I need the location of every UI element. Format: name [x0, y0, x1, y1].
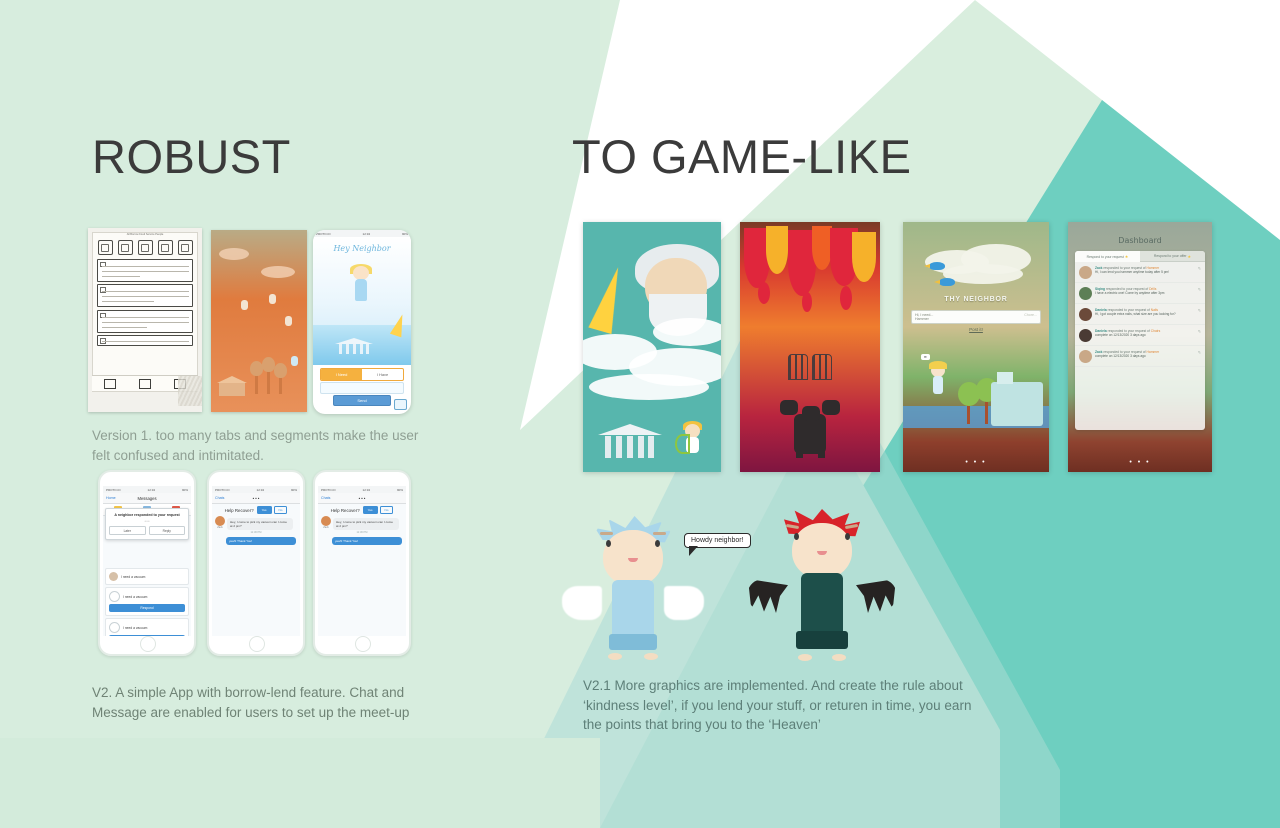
row-item: Hammer	[1147, 350, 1160, 354]
wireframe-list-row	[97, 335, 193, 346]
status-bar: PROTO.IO 12:34 90%	[313, 230, 411, 237]
heading-robust: ROBUST	[92, 133, 291, 180]
row-text: Daniela responded to your request of Nai…	[1095, 308, 1195, 318]
tree-illustration	[267, 368, 270, 394]
status-carrier: PROTO.IO	[106, 488, 121, 492]
angel-foot	[644, 653, 658, 660]
row-item: Drills	[1149, 287, 1156, 291]
home-button[interactable]	[355, 636, 371, 652]
outgoing-message: yeah! Thank You!	[226, 537, 296, 545]
table-row[interactable]: Siqing responded to your request of Dril…	[1075, 283, 1205, 304]
status-carrier: PROTO.IO	[316, 232, 331, 236]
chat-screen: PROTO.IO 12:34 90% Chats • • • Help Reco…	[212, 486, 300, 636]
post-it-button[interactable]: Post it!	[903, 327, 1049, 332]
segment-i-have[interactable]: I Have	[362, 369, 403, 380]
messages-navbar: Home Messages	[103, 493, 191, 504]
status-time: 12:34	[363, 488, 371, 492]
angel-eye	[655, 540, 660, 547]
angel-illustration	[927, 362, 949, 396]
avatar	[109, 622, 120, 633]
onboarding-orange-mockup	[211, 230, 307, 412]
camera-icon[interactable]	[394, 399, 407, 410]
status-bar: PROTO.IO 12:34 90%	[318, 486, 406, 493]
chat-phone-mockup-1: PROTO.IO 12:34 90% Chats • • • Help Reco…	[207, 470, 305, 656]
dashboard-title: Dashboard	[1068, 236, 1212, 245]
incoming-message: Hey, I come to pick my vacuum can I come…	[333, 518, 399, 530]
avatar	[215, 516, 225, 526]
status-carrier: PROTO.IO	[321, 488, 336, 492]
back-button[interactable]: Home	[106, 496, 116, 500]
send-button[interactable]: Send	[333, 395, 391, 406]
outgoing-message: yeah! Thank You!	[332, 537, 402, 545]
input-placeholder: Chore...	[1024, 313, 1037, 317]
bird-icon	[939, 278, 955, 286]
wireframe-tab-icon	[178, 240, 193, 255]
input-value: Hammer	[915, 317, 929, 321]
devil-eye	[845, 533, 850, 540]
table-row[interactable]: Daniela responded to your request of Cha…	[1075, 325, 1205, 346]
status-battery: 90%	[182, 488, 188, 492]
dashboard-tabs[interactable]: Respond to your request ★ Respond to you…	[1075, 251, 1205, 262]
caption-version-2-1: V2.1 More graphics are implemented. And …	[583, 676, 978, 735]
messages-screen: PROTO.IO 12:34 90% Home Messages A neigh…	[103, 486, 191, 636]
avatar	[321, 516, 331, 526]
background-bottom-strip	[0, 738, 600, 828]
row-verb: responded to your request of	[1103, 350, 1145, 354]
chat-navbar: Chats • • •	[318, 493, 406, 504]
row-user: Daniela	[1095, 308, 1107, 312]
chat-phone-mockup-2: PROTO.IO 12:34 90% Chats • • • Help Reco…	[313, 470, 411, 656]
speech-bubble: Howdy neighbor!	[684, 533, 751, 548]
wireframe-list-row	[97, 310, 193, 333]
chat-screen: PROTO.IO 12:34 90% Chats • • • Help Reco…	[318, 486, 406, 636]
wireframe-tab-row	[93, 237, 197, 256]
tab-respond-to-offer[interactable]: Respond to your offer ★	[1140, 251, 1205, 262]
row-verb: responded to your request of	[1106, 287, 1148, 291]
table-row[interactable]: Zack responded to your request of Hammer…	[1075, 346, 1205, 367]
page-indicator[interactable]: • • •	[903, 459, 1049, 466]
angel-wing-right	[664, 586, 704, 620]
segment-i-need[interactable]: I Need	[321, 369, 362, 380]
row-verb: responded to your request of	[1108, 308, 1150, 312]
hey-neighbor-splash-mockup: PROTO.IO 12:34 90% Hey Neighbor I Need I…	[313, 230, 411, 414]
wireframe-paper: All Borrow Food Service People	[92, 232, 198, 392]
row-verb: responded to your request of	[1108, 329, 1150, 333]
incoming-message: Hey, I come to pick my vacuum can I come…	[227, 518, 293, 530]
tree-illustration	[985, 396, 988, 424]
need-have-segmented-control[interactable]: I Need I Have	[320, 368, 404, 381]
no-button[interactable]: No	[380, 506, 394, 514]
tab-label: Respond to your request	[1087, 255, 1124, 259]
angel-brow	[653, 532, 666, 535]
request-input[interactable]	[320, 382, 404, 394]
harp-icon	[675, 434, 690, 454]
row-verb: responded to your request of	[1103, 266, 1145, 270]
heaven-illustration-panel	[583, 222, 721, 472]
angel-brow	[600, 532, 613, 535]
app-title: Hey Neighbor	[313, 244, 411, 253]
message-timestamp: 11:30 PM	[212, 531, 300, 534]
star-icon: ★	[1125, 254, 1129, 259]
request-input[interactable]: Chore... Hi, I need... Hammer	[911, 310, 1041, 324]
temple-illustration	[601, 424, 659, 458]
thread-text: I need a vacuum	[121, 575, 185, 579]
angel-robe-hem	[609, 634, 657, 650]
underworld-gate	[788, 354, 832, 380]
row-item: Hammer	[1147, 266, 1160, 270]
tree-illustration	[967, 400, 970, 424]
reply-icon[interactable]: ↰	[1198, 350, 1201, 355]
angel-character	[578, 512, 688, 662]
list-item[interactable]: I need a vacuum Respond	[105, 618, 189, 636]
yes-button[interactable]: Yes	[257, 506, 272, 514]
row-item: Nails	[1151, 308, 1158, 312]
speech-bubble-small: ✉	[921, 354, 930, 360]
no-button[interactable]: No	[274, 506, 288, 514]
avatar	[109, 591, 120, 602]
avatar	[1079, 287, 1092, 300]
tree-illustration	[279, 374, 282, 394]
reply-icon[interactable]: ↰	[1198, 308, 1201, 313]
yes-no-group[interactable]: Yes No	[257, 506, 288, 514]
lightning-bolt-icon	[588, 264, 629, 334]
devil-robe	[801, 573, 843, 635]
devil-character	[766, 505, 878, 663]
thy-neighbor-title: THY NEIGHBOR	[903, 296, 1049, 303]
cupid-illustration	[677, 422, 707, 456]
status-time: 12:34	[148, 488, 156, 492]
bird-icon	[929, 262, 945, 270]
table-row[interactable]: Daniela responded to your request of Nai…	[1075, 304, 1205, 325]
row-message: Hi, I can lend you hammer anytime today …	[1095, 270, 1195, 275]
row-message: Hi, I got couple extra nails, what size …	[1095, 312, 1195, 317]
row-text: Zack responded to your request of Hammer…	[1095, 266, 1195, 276]
dashboard-card: Respond to your request ★ Respond to you…	[1075, 251, 1205, 430]
heading-to-game-like: TO GAME-LIKE	[572, 133, 911, 180]
angel-head	[353, 266, 369, 280]
paper-edge-shadow	[178, 376, 202, 406]
wireframe-list-row	[97, 259, 193, 282]
reply-icon[interactable]: ↰	[1198, 329, 1201, 334]
angel-illustration	[349, 266, 373, 302]
underworld-illustration-panel	[740, 222, 880, 472]
angel-robe	[612, 580, 654, 642]
yes-button[interactable]: Yes	[363, 506, 378, 514]
avatar	[1079, 329, 1092, 342]
angel-foot	[608, 653, 622, 660]
request-text: I need a vacuum	[123, 595, 185, 599]
status-carrier: PROTO.IO	[215, 488, 230, 492]
avatar	[1079, 266, 1092, 279]
caption-version-1: Version 1. too many tabs and segments ma…	[92, 426, 432, 465]
reply-icon[interactable]: ↰	[1198, 266, 1201, 271]
tab-respond-to-request[interactable]: Respond to your request ★	[1075, 251, 1140, 262]
temple-illustration	[219, 382, 245, 396]
reply-button[interactable]: Reply	[149, 526, 186, 535]
devil-eye	[794, 533, 799, 540]
angel-wing-left	[562, 586, 602, 620]
row-message: complete on 12/13/2020 3 days ago	[1095, 333, 1195, 338]
list-item[interactable]: I need a vacuum Respond	[105, 587, 189, 616]
wireframe-tab-icon	[98, 240, 113, 255]
wireframe-list-row	[97, 284, 193, 307]
row-message: I have a electric one! Come by anytime a…	[1095, 291, 1195, 296]
row-text: Zack responded to your request of Hammer…	[1095, 350, 1195, 360]
back-button[interactable]: Chats	[215, 496, 224, 500]
navbar-dots: • • •	[359, 496, 366, 501]
angel-body	[355, 279, 367, 301]
avatar	[1079, 308, 1092, 321]
reply-icon[interactable]: ↰	[1198, 287, 1201, 292]
star-icon: ★	[1187, 254, 1191, 259]
envelope-icon	[104, 379, 116, 389]
status-bar: PROTO.IO 12:34 90%	[212, 486, 300, 493]
sender-name: Zack	[321, 526, 331, 529]
status-bar: PROTO.IO 12:34 90%	[103, 486, 191, 493]
list-icon	[139, 379, 151, 389]
caption-version-2: V2. A simple App with borrow-lend featur…	[92, 683, 432, 722]
modal-title: A neighbor responded to your request	[109, 513, 185, 517]
temple-illustration	[337, 338, 371, 354]
notification-modal[interactable]: A neighbor responded to your request • •…	[105, 508, 189, 540]
messages-phone-mockup: PROTO.IO 12:34 90% Home Messages A neigh…	[98, 470, 196, 656]
wireframe-tab-icon	[158, 240, 173, 255]
later-button[interactable]: Later	[109, 526, 146, 535]
page-indicator[interactable]: • • •	[1068, 459, 1212, 466]
modal-subtitle: • • •	[109, 519, 185, 523]
angel-eye	[606, 540, 611, 547]
status-battery: 90%	[291, 488, 297, 492]
home-button[interactable]	[249, 636, 265, 652]
chat-navbar: Chats • • •	[212, 493, 300, 504]
row-user: Zack	[1095, 350, 1103, 354]
wireframe-tab-icon	[118, 240, 133, 255]
dashboard-screen: Dashboard Respond to your request ★ Resp…	[1068, 222, 1212, 472]
navbar-title: Messages	[137, 496, 156, 501]
row-text: Siqing responded to your request of Dril…	[1095, 287, 1195, 297]
table-row[interactable]: Zack responded to your request of Hammer…	[1075, 262, 1205, 283]
devil-foot	[798, 654, 812, 661]
avatar	[109, 572, 118, 581]
wireframe-tab-icon	[138, 240, 153, 255]
thy-neighbor-screen: THY NEIGHBOR Chore... Hi, I need... Hamm…	[903, 222, 1049, 472]
status-time: 12:34	[363, 232, 371, 236]
row-item: Chairs	[1151, 329, 1161, 333]
status-time: 12:34	[257, 488, 265, 492]
devil-robe-hem	[796, 631, 848, 649]
sender-name: Zack	[215, 526, 225, 529]
temple-illustration	[991, 382, 1043, 426]
yes-no-group[interactable]: Yes No	[363, 506, 394, 514]
row-user: Daniela	[1095, 329, 1107, 333]
wireframe-tab-labels: All Borrow Food Service People	[93, 233, 197, 236]
back-button[interactable]: Chats	[321, 496, 330, 500]
devil-foot	[832, 654, 846, 661]
tree-illustration	[255, 372, 258, 394]
status-battery: 90%	[397, 488, 403, 492]
row-user: Siqing	[1095, 287, 1105, 291]
row-user: Zack	[1095, 266, 1103, 270]
tab-label: Respond to your offer	[1154, 254, 1187, 258]
respond-button[interactable]: Respond	[109, 604, 185, 612]
request-text: I need a vacuum	[123, 626, 185, 630]
message-timestamp: 11:30 PM	[318, 531, 406, 534]
help-recover-title: Help Recover?	[225, 508, 254, 513]
cerberus-illustration	[780, 396, 842, 458]
row-text: Daniela responded to your request of Cha…	[1095, 329, 1195, 339]
thread-row[interactable]: I need a vacuum	[105, 568, 189, 585]
avatar	[1079, 350, 1092, 363]
help-recover-title: Help Recover?	[331, 508, 360, 513]
navbar-dots: • • •	[253, 496, 260, 501]
row-message: complete on 12/13/2020 3 days ago	[1095, 354, 1195, 359]
modal-button-row: Later Reply	[109, 526, 185, 535]
paper-wireframe-mockup: All Borrow Food Service People	[88, 228, 202, 412]
home-button[interactable]	[140, 636, 156, 652]
